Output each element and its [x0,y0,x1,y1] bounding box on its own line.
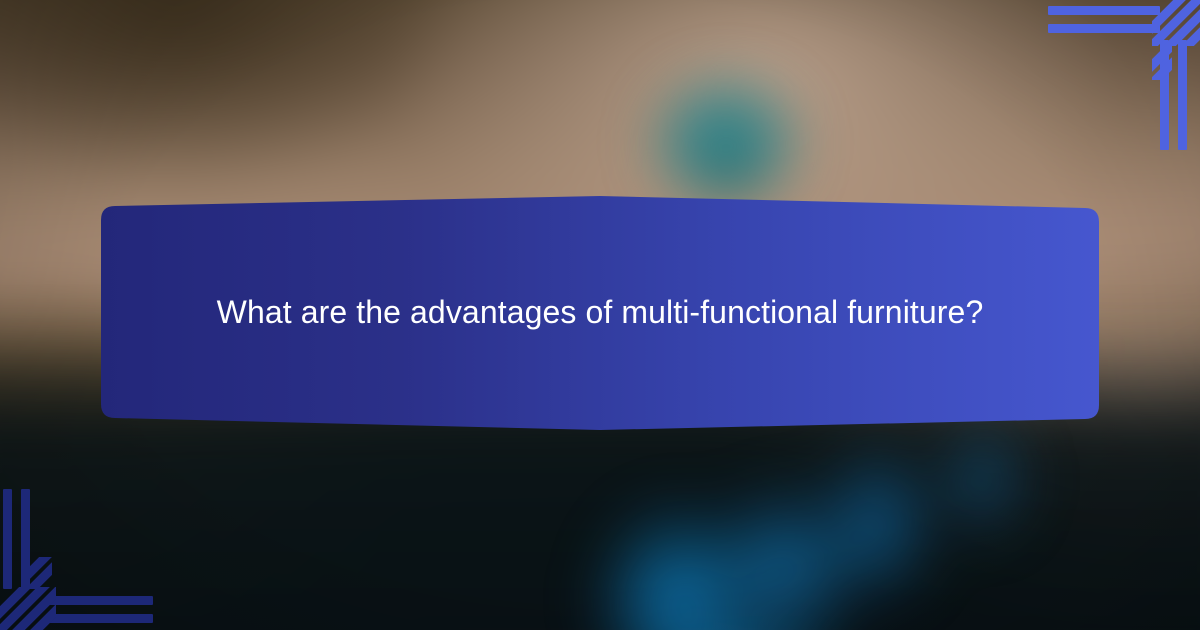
bracket-bar-vertical-outer [1178,40,1187,150]
top-right-corner-bracket [1040,0,1200,150]
bracket-bar-horizontal-inner [48,596,153,605]
question-banner: What are the advantages of multi-functio… [101,193,1099,433]
bottom-left-corner-bracket [0,475,160,630]
bracket-hatch-elbow [1152,0,1200,46]
bracket-bar-vertical-outer [3,489,12,589]
question-text: What are the advantages of multi-functio… [190,287,1010,339]
bracket-bar-horizontal-outer [48,614,153,623]
bracket-hatch-elbow-lower [1152,46,1172,80]
poster-canvas: What are the advantages of multi-functio… [0,0,1200,630]
bracket-bar-horizontal-inner [1048,24,1160,33]
bracket-bar-horizontal-outer [1048,6,1160,15]
bracket-hatch-elbow-upper [30,557,52,589]
bracket-hatch-elbow [0,587,56,630]
bracket-bar-vertical-inner [21,489,30,589]
